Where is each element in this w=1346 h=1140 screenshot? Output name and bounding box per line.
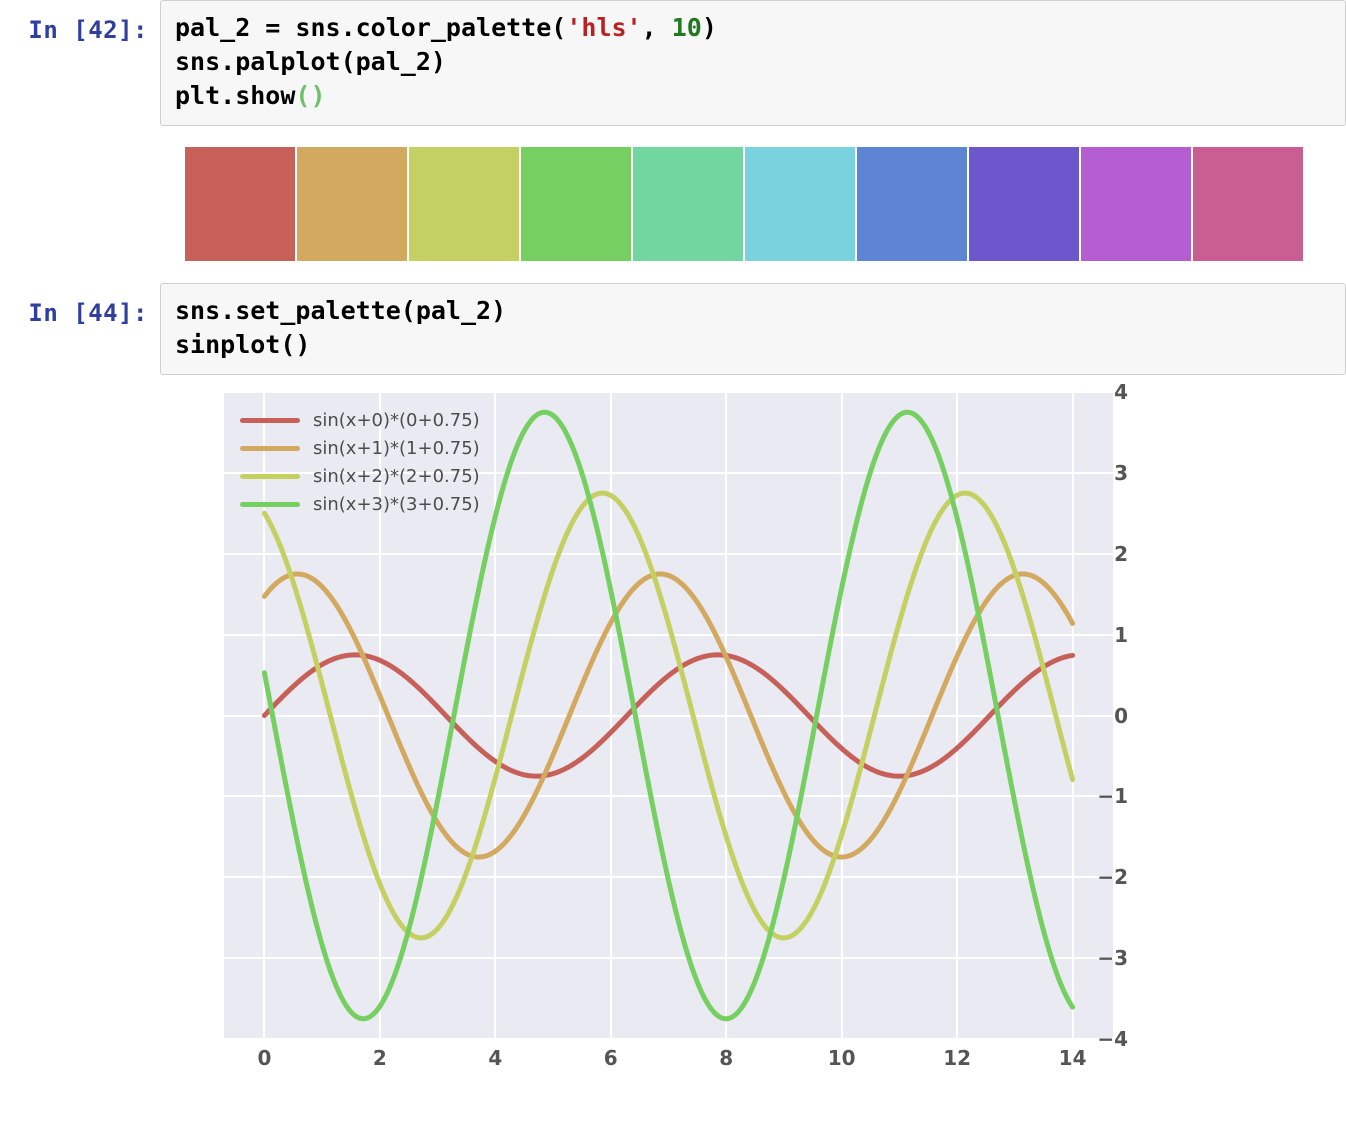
legend-item-0: sin(x+0)*(0+0.75): [240, 406, 480, 434]
x-tick-label: 0: [234, 1046, 294, 1070]
code-lines-1: pal_2 = sns.color_palette('hls', 10)sns.…: [175, 11, 1331, 113]
code-line: pal_2 = sns.color_palette('hls', 10): [175, 11, 1331, 45]
output-gutter: [0, 147, 185, 261]
plot-axes: sin(x+0)*(0+0.75)sin(x+1)*(1+0.75)sin(x+…: [224, 392, 1113, 1039]
code-token: plt.show: [175, 81, 295, 110]
legend-color-swatch: [240, 418, 300, 423]
y-tick-label: −1: [1082, 784, 1128, 808]
legend-label: sin(x+2)*(2+0.75): [313, 466, 480, 487]
legend-item-3: sin(x+3)*(3+0.75): [240, 490, 480, 518]
y-tick-label: −2: [1082, 865, 1128, 889]
code-lines-2: sns.set_palette(pal_2)sinplot(): [175, 294, 1331, 362]
legend-color-swatch: [240, 502, 300, 507]
legend-label: sin(x+3)*(3+0.75): [313, 494, 480, 515]
y-tick-label: 1: [1082, 623, 1128, 647]
palette-swatch-9: [1193, 147, 1303, 261]
code-line: plt.show(): [175, 79, 1331, 113]
x-tick-label: 8: [696, 1046, 756, 1070]
x-tick-label: 10: [812, 1046, 872, 1070]
plot-output: sin(x+0)*(0+0.75)sin(x+1)*(1+0.75)sin(x+…: [0, 375, 1346, 1064]
y-tick-label: 3: [1082, 461, 1128, 485]
code-token: (): [295, 81, 325, 110]
code-token: sinplot(): [175, 330, 310, 359]
matplotlib-figure: sin(x+0)*(0+0.75)sin(x+1)*(1+0.75)sin(x+…: [168, 392, 1128, 1064]
code-token: 'hls': [566, 13, 641, 42]
palette-swatch-8: [1081, 147, 1191, 261]
y-tick-label: 0: [1082, 704, 1128, 728]
x-tick-label: 14: [1043, 1046, 1103, 1070]
x-tick-label: 2: [350, 1046, 410, 1070]
palette-swatch-2: [409, 147, 519, 261]
y-tick-label: 4: [1082, 380, 1128, 404]
input-prompt-42: In [42]:: [0, 0, 160, 44]
y-tick-label: −3: [1082, 946, 1128, 970]
code-token: sns.set_palette(pal_2): [175, 296, 506, 325]
palette-swatch-5: [745, 147, 855, 261]
palette-strip: [185, 147, 1303, 261]
notebook-cell-2[interactable]: In [44]: sns.set_palette(pal_2)sinplot(): [0, 283, 1346, 375]
code-line: sinplot(): [175, 328, 1331, 362]
palette-swatch-1: [297, 147, 407, 261]
palette-swatch-3: [521, 147, 631, 261]
palette-output: [0, 126, 1346, 283]
palette-swatch-4: [633, 147, 743, 261]
legend-item-2: sin(x+2)*(2+0.75): [240, 462, 480, 490]
code-line: sns.set_palette(pal_2): [175, 294, 1331, 328]
legend-label: sin(x+0)*(0+0.75): [313, 410, 480, 431]
legend-item-1: sin(x+1)*(1+0.75): [240, 434, 480, 462]
palette-swatch-7: [969, 147, 1079, 261]
code-line: sns.palplot(pal_2): [175, 45, 1331, 79]
code-token: ,: [642, 13, 672, 42]
notebook-cell-1[interactable]: In [42]: pal_2 = sns.color_palette('hls'…: [0, 0, 1346, 126]
code-token: 10: [672, 13, 702, 42]
code-token: sns.palplot(pal_2): [175, 47, 446, 76]
legend-label: sin(x+1)*(1+0.75): [313, 438, 480, 459]
legend-color-swatch: [240, 474, 300, 479]
legend-color-swatch: [240, 446, 300, 451]
x-tick-label: 6: [581, 1046, 641, 1070]
palette-swatch-0: [185, 147, 295, 261]
palette-swatch-6: [857, 147, 967, 261]
plot-gutter: [0, 392, 168, 1064]
code-editor-2[interactable]: sns.set_palette(pal_2)sinplot(): [160, 283, 1346, 375]
code-token: pal_2 = sns.color_palette(: [175, 13, 566, 42]
x-tick-label: 12: [927, 1046, 987, 1070]
code-editor-1[interactable]: pal_2 = sns.color_palette('hls', 10)sns.…: [160, 0, 1346, 126]
y-tick-label: 2: [1082, 542, 1128, 566]
input-prompt-44: In [44]:: [0, 283, 160, 327]
code-token: ): [702, 13, 717, 42]
x-tick-label: 4: [465, 1046, 525, 1070]
legend: sin(x+0)*(0+0.75)sin(x+1)*(1+0.75)sin(x+…: [236, 402, 488, 522]
